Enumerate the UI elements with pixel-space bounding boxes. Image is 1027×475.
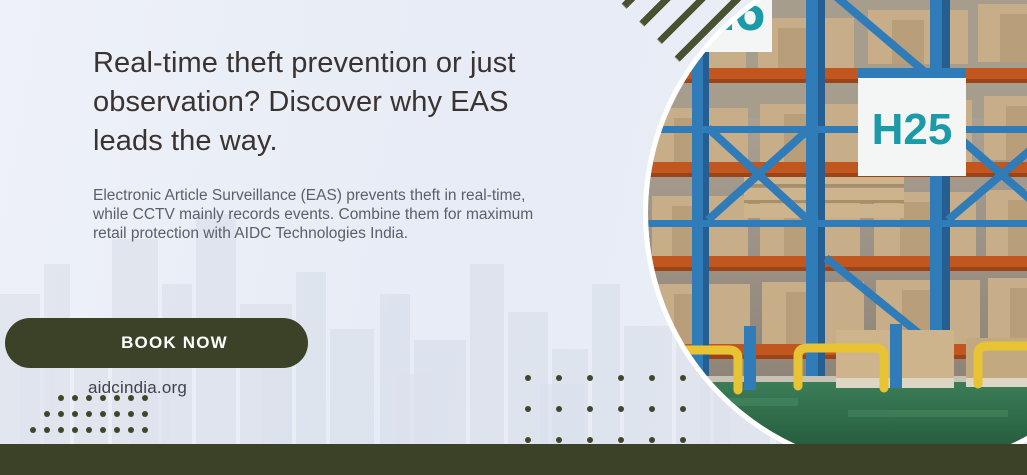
decor-dot bbox=[525, 375, 531, 381]
decor-dot bbox=[556, 437, 562, 443]
decor-dot bbox=[72, 427, 78, 433]
page-title: Real-time theft prevention or just obser… bbox=[93, 44, 563, 161]
decor-dot bbox=[142, 427, 148, 433]
decor-dot bbox=[114, 411, 120, 417]
decor-dot bbox=[680, 406, 686, 412]
dot-grid-center bbox=[525, 375, 725, 450]
book-now-button[interactable]: BOOK NOW bbox=[5, 318, 308, 368]
decor-dot bbox=[86, 395, 92, 401]
decor-dot bbox=[44, 411, 50, 417]
decor-dot bbox=[58, 395, 64, 401]
decor-dot bbox=[86, 427, 92, 433]
decor-dot bbox=[100, 411, 106, 417]
decor-dot bbox=[114, 427, 120, 433]
decor-dot bbox=[44, 427, 50, 433]
decor-dot bbox=[114, 395, 120, 401]
decor-dot bbox=[128, 427, 134, 433]
decor-dot bbox=[649, 406, 655, 412]
decor-dot bbox=[649, 437, 655, 443]
decor-dot bbox=[618, 406, 624, 412]
decor-dot bbox=[142, 395, 148, 401]
promo-banner: H26 H25 H24 bbox=[0, 0, 1027, 475]
decor-dot bbox=[618, 375, 624, 381]
decor-dot bbox=[525, 406, 531, 412]
decor-dot bbox=[556, 406, 562, 412]
decor-dot bbox=[649, 375, 655, 381]
decor-dot bbox=[128, 395, 134, 401]
decor-dot bbox=[128, 411, 134, 417]
decor-dot bbox=[72, 411, 78, 417]
svg-text:H26: H26 bbox=[663, 0, 766, 42]
decor-dot bbox=[142, 411, 148, 417]
dot-grid-left bbox=[0, 395, 200, 445]
decor-dot bbox=[58, 411, 64, 417]
decor-dot bbox=[587, 437, 593, 443]
body-copy: Electronic Article Surveillance (EAS) pr… bbox=[93, 186, 565, 244]
decor-dot bbox=[680, 375, 686, 381]
decor-dot bbox=[587, 406, 593, 412]
decor-dot bbox=[58, 427, 64, 433]
decor-dot bbox=[587, 375, 593, 381]
svg-text:H25: H25 bbox=[872, 105, 953, 154]
decor-dot bbox=[100, 427, 106, 433]
decor-dot bbox=[86, 411, 92, 417]
decor-dot bbox=[30, 427, 36, 433]
decor-dot bbox=[618, 437, 624, 443]
decor-dot bbox=[680, 437, 686, 443]
decor-dot bbox=[556, 375, 562, 381]
decor-dot bbox=[525, 437, 531, 443]
decor-dot bbox=[100, 395, 106, 401]
decor-dot bbox=[72, 395, 78, 401]
bottom-bar bbox=[0, 444, 1027, 475]
